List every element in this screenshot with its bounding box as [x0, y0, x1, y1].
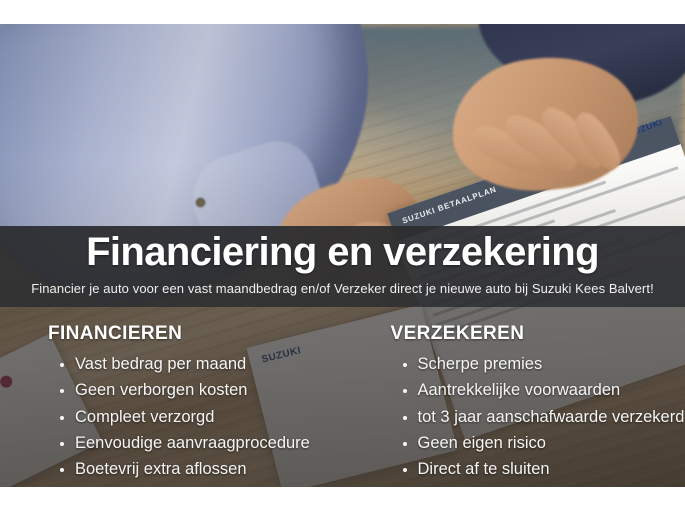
column-heading-financieren: FINANCIEREN — [48, 323, 343, 346]
list-item: Eenvoudige aanvraagprocedure — [60, 432, 343, 455]
page-subtitle: Financier je auto voor een vast maandbed… — [0, 281, 685, 297]
list-item: Boetevrij extra aflossen — [60, 458, 343, 481]
list-item: Direct af te sluiten — [403, 458, 685, 481]
list-item: Geen eigen risico — [403, 432, 685, 455]
headline-band: Financiering en verzekering Financier je… — [0, 226, 685, 307]
feature-column-verzekeren: VERZEKEREN Scherpe premies Aantrekkelijk… — [343, 307, 685, 487]
list-item: tot 3 jaar aanschafwaarde verzekerd — [403, 406, 685, 429]
promo-banner: SUZUKI BETAALPLAN SUZUKI SUZUKI — [0, 0, 685, 514]
column-heading-verzekeren: VERZEKEREN — [391, 323, 685, 346]
list-item: Geen verborgen kosten — [60, 379, 343, 402]
verzekeren-benefit-list: Scherpe premies Aantrekkelijke voorwaard… — [391, 353, 685, 482]
list-item: Compleet verzorgd — [60, 406, 343, 429]
list-item: Aantrekkelijke voorwaarden — [403, 379, 685, 402]
page-title: Financiering en verzekering — [0, 231, 685, 274]
feature-column-financieren: FINANCIEREN Vast bedrag per maand Geen v… — [0, 307, 343, 487]
list-item: Vast bedrag per maand — [60, 353, 343, 376]
list-item: Scherpe premies — [403, 353, 685, 376]
features-band: FINANCIEREN Vast bedrag per maand Geen v… — [0, 307, 685, 487]
financieren-benefit-list: Vast bedrag per maand Geen verborgen kos… — [48, 353, 343, 482]
